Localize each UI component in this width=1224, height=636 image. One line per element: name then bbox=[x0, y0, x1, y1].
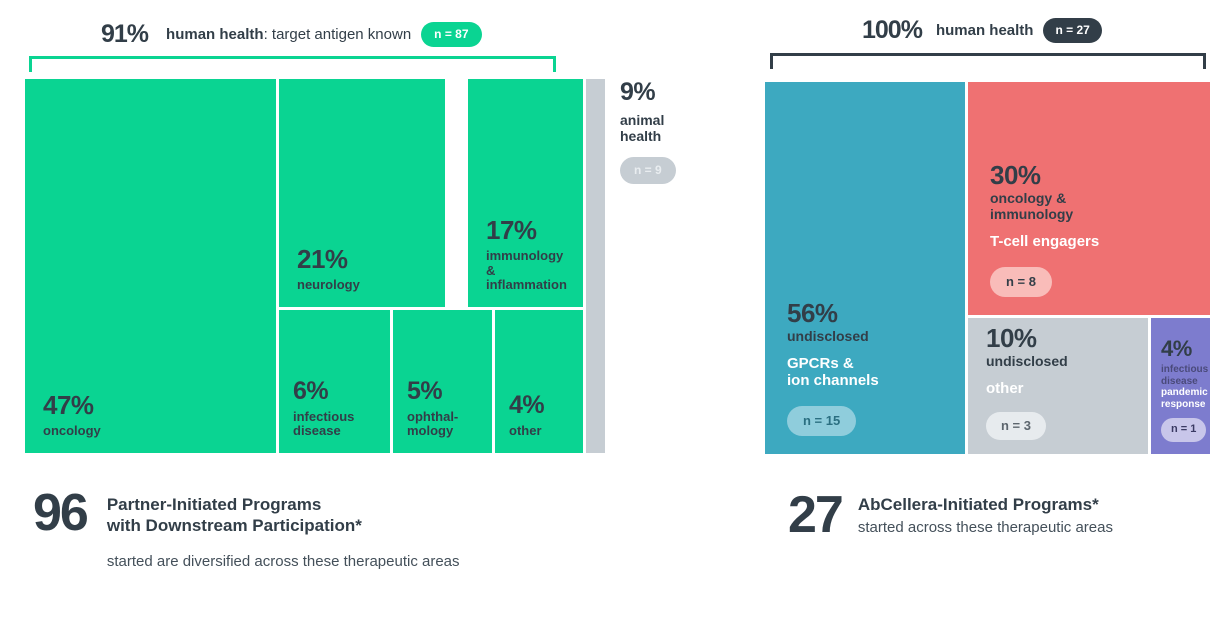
cell-label: immunology & inflammation bbox=[486, 249, 575, 293]
left-header-caption-rest: : target antigen known bbox=[264, 26, 412, 43]
cell-label: oncology bbox=[43, 424, 268, 439]
left-footer-title-line1: Partner-Initiated Programs bbox=[107, 494, 460, 515]
cell-label: other bbox=[509, 424, 575, 439]
right-panel-header: 100% human health n = 27 bbox=[862, 16, 1102, 45]
cell-body: 30% oncology & immunology T-cell engager… bbox=[990, 162, 1202, 297]
cell-label: infectious disease bbox=[293, 410, 382, 439]
cell-sublabel-line1: GPCRs & bbox=[787, 356, 957, 373]
cell-sublabel-line2: ion channels bbox=[787, 373, 957, 390]
cell-percent: 4% bbox=[1161, 338, 1204, 360]
cell-sublabel-line1: pandemic bbox=[1161, 387, 1204, 399]
cell-label-line2: disease bbox=[1161, 376, 1204, 388]
right-footer-texts: AbCellera-Initiated Programs* started ac… bbox=[858, 494, 1113, 536]
cell-percent: 10% bbox=[986, 325, 1140, 351]
right-header-caption: human health bbox=[936, 22, 1034, 39]
treemap-cell-immunology-inflammation[interactable]: 17% immunology & inflammation bbox=[468, 79, 583, 307]
cell-body: 17% immunology & inflammation bbox=[486, 217, 575, 293]
animal-health-count-pill: n = 9 bbox=[620, 157, 676, 184]
animal-health-label-line2: health bbox=[620, 129, 730, 145]
treemap-cell-infectious-disease[interactable]: 6% infectious disease bbox=[279, 310, 390, 453]
cell-body: 4% infectious disease pandemic response … bbox=[1161, 338, 1204, 442]
cell-body: 6% infectious disease bbox=[293, 379, 382, 439]
infographic-canvas: 91% human health: target antigen known n… bbox=[0, 0, 1224, 636]
cell-label-line1: immunology & bbox=[486, 249, 575, 278]
cell-percent: 30% bbox=[990, 162, 1202, 188]
cell-percent: 4% bbox=[509, 393, 575, 418]
treemap-cell-oncology[interactable]: 47% oncology bbox=[25, 79, 276, 453]
cell-label-line2: immunology bbox=[990, 207, 1202, 223]
cell-label-line1: ophthal- bbox=[407, 410, 484, 425]
treemap-cell-animal-health[interactable] bbox=[586, 79, 605, 453]
left-footer-texts: Partner-Initiated Programs with Downstre… bbox=[107, 494, 460, 570]
animal-health-label-line1: animal bbox=[620, 113, 730, 129]
cell-body: 10% undisclosed other n = 3 bbox=[986, 325, 1140, 440]
right-footer-number: 27 bbox=[788, 492, 842, 539]
cell-percent: 56% bbox=[787, 300, 957, 326]
left-header-percent: 91% bbox=[101, 20, 148, 49]
cell-sublabel: pandemic response bbox=[1161, 387, 1204, 410]
left-header-caption: human health: target antigen known bbox=[166, 26, 411, 43]
left-bracket bbox=[29, 56, 556, 75]
cell-body: 5% ophthal- mology bbox=[407, 379, 484, 439]
abcellera-initiated-treemap: 56% undisclosed GPCRs & ion channels n =… bbox=[765, 82, 1210, 454]
right-footer-subtitle: started across these therapeutic areas bbox=[858, 519, 1113, 536]
cell-count-pill: n = 8 bbox=[990, 267, 1052, 297]
cell-body: 21% neurology bbox=[297, 246, 437, 293]
treemap-cell-pandemic-response[interactable]: 4% infectious disease pandemic response … bbox=[1151, 318, 1210, 454]
cell-label-line2: mology bbox=[407, 424, 484, 439]
left-panel-header: 91% human health: target antigen known n… bbox=[101, 20, 482, 49]
treemap-cell-neurology[interactable]: 21% neurology bbox=[279, 79, 445, 307]
right-bracket-bar bbox=[770, 53, 1206, 56]
left-bracket-tick-start bbox=[29, 56, 32, 72]
cell-body: 47% oncology bbox=[43, 392, 268, 439]
cell-label: oncology & immunology bbox=[990, 191, 1202, 222]
right-header-percent: 100% bbox=[862, 16, 922, 45]
cell-body: 4% other bbox=[509, 393, 575, 439]
right-bracket bbox=[770, 53, 1206, 72]
cell-label-line1: infectious bbox=[293, 410, 382, 425]
treemap-cell-tcell-engagers[interactable]: 30% oncology & immunology T-cell engager… bbox=[968, 82, 1210, 315]
cell-label-line1: infectious bbox=[1161, 364, 1204, 376]
left-bracket-tick-end bbox=[553, 56, 556, 72]
partner-initiated-treemap: 47% oncology 21% neurology 17% immunolog… bbox=[25, 79, 605, 453]
cell-body: 56% undisclosed GPCRs & ion channels n =… bbox=[787, 300, 957, 436]
cell-label-line1: oncology & bbox=[990, 191, 1202, 207]
left-bracket-bar bbox=[29, 56, 556, 59]
left-header-count-pill: n = 87 bbox=[421, 22, 481, 47]
treemap-cell-gpcrs-ion-channels[interactable]: 56% undisclosed GPCRs & ion channels n =… bbox=[765, 82, 965, 454]
cell-label: infectious disease bbox=[1161, 364, 1204, 387]
cell-sublabel: GPCRs & ion channels bbox=[787, 356, 957, 390]
treemap-cell-ophthalmology[interactable]: 5% ophthal- mology bbox=[393, 310, 492, 453]
cell-sublabel: other bbox=[986, 381, 1140, 398]
treemap-cell-other[interactable]: 4% other bbox=[495, 310, 583, 453]
cell-percent: 17% bbox=[486, 217, 575, 243]
cell-count-pill: n = 3 bbox=[986, 412, 1046, 440]
animal-health-callout: 9% animal health n = 9 bbox=[620, 80, 730, 184]
cell-percent: 47% bbox=[43, 392, 268, 418]
left-panel-footer: 96 Partner-Initiated Programs with Downs… bbox=[33, 490, 460, 570]
cell-label: neurology bbox=[297, 278, 437, 293]
left-footer-number: 96 bbox=[33, 490, 87, 537]
cell-label-line2: inflammation bbox=[486, 278, 575, 293]
cell-label: undisclosed bbox=[787, 329, 957, 345]
right-footer-title-line1: AbCellera-Initiated Programs* bbox=[858, 494, 1113, 515]
left-header-caption-bold: human health bbox=[166, 26, 264, 43]
cell-percent: 5% bbox=[407, 379, 484, 404]
left-footer-subtitle: started are diversified across these the… bbox=[107, 553, 460, 570]
cell-count-pill: n = 15 bbox=[787, 406, 856, 436]
left-footer-title-line2: with Downstream Participation* bbox=[107, 515, 460, 536]
treemap-cell-undisclosed-other[interactable]: 10% undisclosed other n = 3 bbox=[968, 318, 1148, 454]
cell-label-line2: disease bbox=[293, 424, 382, 439]
animal-health-label: animal health bbox=[620, 113, 730, 144]
right-panel-footer: 27 AbCellera-Initiated Programs* started… bbox=[788, 492, 1113, 539]
right-bracket-tick-end bbox=[1203, 53, 1206, 69]
cell-label: undisclosed bbox=[986, 354, 1140, 370]
cell-percent: 21% bbox=[297, 246, 437, 272]
cell-sublabel-line2: response bbox=[1161, 399, 1204, 411]
cell-label: ophthal- mology bbox=[407, 410, 484, 439]
cell-percent: 6% bbox=[293, 379, 382, 404]
cell-count-pill: n = 1 bbox=[1161, 418, 1206, 442]
right-header-count-pill: n = 27 bbox=[1043, 18, 1101, 43]
right-bracket-tick-start bbox=[770, 53, 773, 69]
animal-health-percent: 9% bbox=[620, 80, 730, 105]
cell-sublabel: T-cell engagers bbox=[990, 234, 1202, 251]
